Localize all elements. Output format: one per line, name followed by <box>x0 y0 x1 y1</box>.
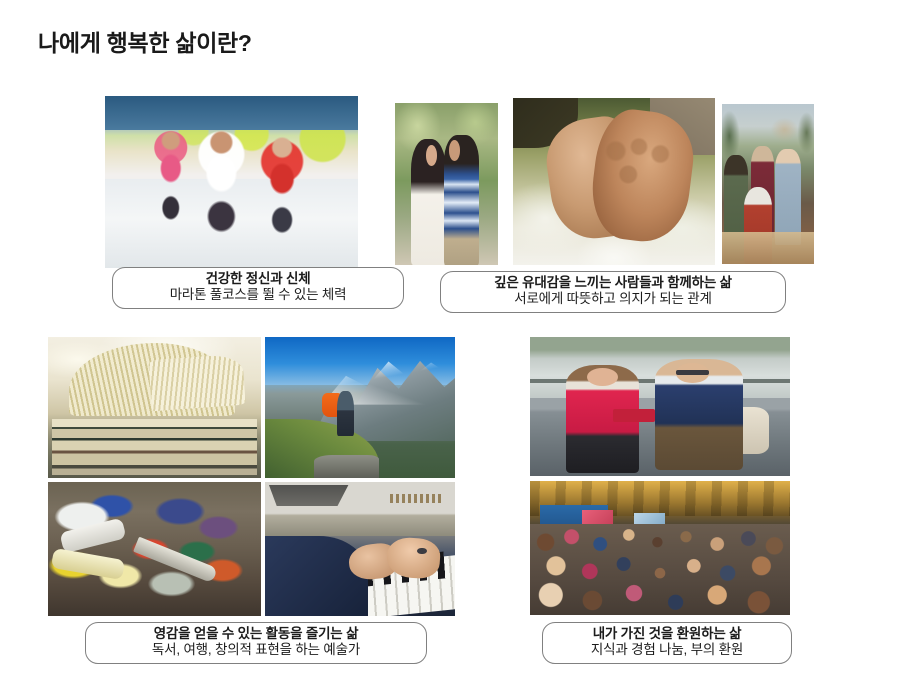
photo-detail-knuckles <box>598 135 687 208</box>
photo-detail-crowd <box>530 524 790 615</box>
photo-detail-red-card <box>613 409 655 422</box>
caption-inspiration-line1: 영감을 얻을 수 있는 활동을 즐기는 삶 <box>154 626 359 642</box>
paint-palette-photo <box>48 482 261 616</box>
photo-detail-man-face <box>449 140 460 161</box>
page-title: 나에게 행복한 삶이란? <box>38 24 252 58</box>
conference-audience-photo <box>530 481 790 615</box>
photo-detail-glasses <box>676 370 710 374</box>
elderly-hands-photo <box>513 98 715 265</box>
photo-detail-table <box>722 232 814 264</box>
caption-relationships-line2: 서로에게 따뜻하고 의지가 되는 관계 <box>514 291 712 307</box>
photo-detail-hiker <box>337 391 354 436</box>
caption-health-line1: 건강한 정신과 신체 <box>206 271 311 287</box>
family-gathering-photo <box>722 104 814 264</box>
caption-health: 건강한 정신과 신체 마라톤 풀코스를 뛸 수 있는 체력 <box>112 267 404 309</box>
photo-detail-right-pages <box>149 354 246 411</box>
photo-detail-music-rack <box>269 485 349 506</box>
caption-relationships-line1: 깊은 유대감을 느끼는 사람들과 함께하는 삶 <box>494 275 732 291</box>
young-couple-photo <box>395 103 498 265</box>
photo-detail-piano-brand <box>390 494 443 503</box>
caption-giving-back: 내가 가진 것을 환원하는 삶 지식과 경험 나눔, 부의 환원 <box>542 622 792 664</box>
caption-giving-back-line1: 내가 가진 것을 환원하는 삶 <box>593 626 742 642</box>
caption-relationships: 깊은 유대감을 느끼는 사람들과 함께하는 삶 서로에게 따뜻하고 의지가 되는… <box>440 271 786 313</box>
photo-detail-woman-face <box>587 368 618 386</box>
photo-detail-person-3 <box>775 149 801 245</box>
marathon-runners-photo <box>105 96 358 268</box>
photo-detail-ring <box>417 548 427 555</box>
philanthropist-couple-photo <box>530 337 790 476</box>
photo-detail-book-stack <box>52 419 257 475</box>
open-books-photo <box>48 337 261 478</box>
caption-inspiration: 영감을 얻을 수 있는 활동을 즐기는 삶 독서, 여행, 창의적 표현을 하는… <box>85 622 427 664</box>
caption-inspiration-line2: 독서, 여행, 창의적 표현을 하는 예술가 <box>152 642 360 658</box>
photo-detail-runners <box>105 96 358 268</box>
caption-health-line2: 마라톤 풀코스를 뛸 수 있는 체력 <box>170 287 347 303</box>
photo-detail-rock <box>314 455 379 478</box>
slide-canvas: 나에게 행복한 삶이란? 건강한 정신과 신체 마라톤 풀코스를 뛸 수 있는 … <box>0 0 912 684</box>
mountain-hiker-photo <box>265 337 455 478</box>
caption-giving-back-line2: 지식과 경험 나눔, 부의 환원 <box>591 642 743 658</box>
photo-detail-navy-sleeve <box>265 536 368 616</box>
piano-hands-photo <box>265 482 455 616</box>
